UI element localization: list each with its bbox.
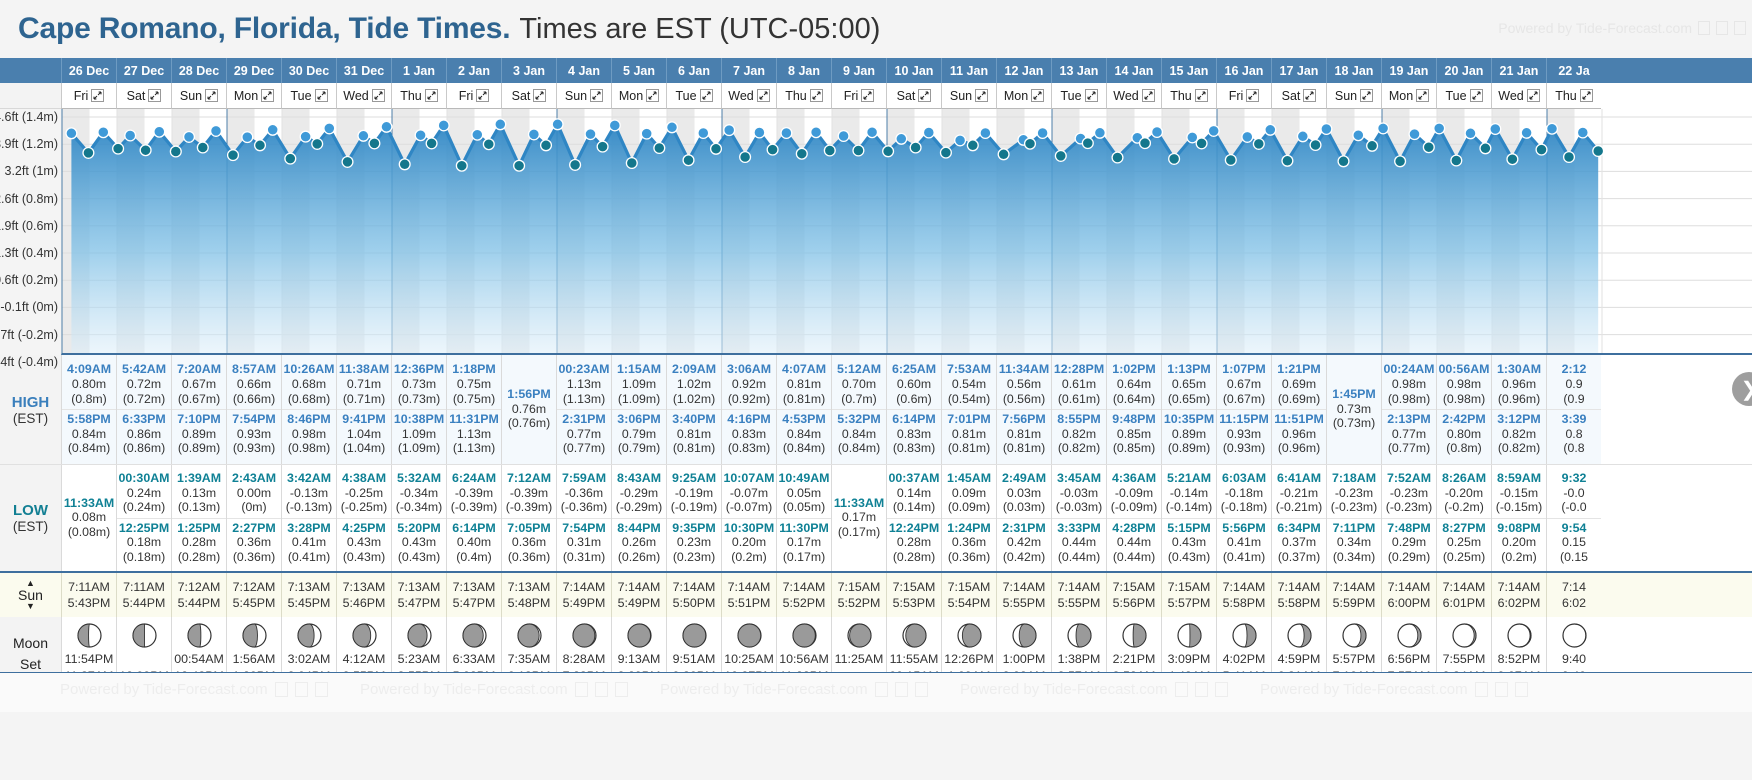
page-title: Cape Romano, Florida, Tide Times. — [18, 12, 510, 46]
date-header-cell[interactable]: 21 Jan — [1491, 58, 1546, 83]
high-tide-time: 4:53PM — [777, 412, 831, 427]
expand-day-icon[interactable] — [918, 89, 931, 102]
sunrise-time: 7:11AM — [68, 580, 110, 594]
sunrise-time: 7:14AM — [1498, 580, 1541, 594]
high-tide-event: 3:390.8(0.8 — [1547, 409, 1601, 459]
sunset-time: 5:44PM — [178, 596, 221, 610]
tide-chart-plot[interactable] — [61, 109, 1752, 355]
low-tide-time: 5:56PM — [1217, 521, 1271, 536]
weekday-label: Mon — [619, 89, 643, 103]
sun-cell: 7:13AM5:47PM — [391, 573, 446, 617]
sunset-time: 5:56PM — [1113, 596, 1156, 610]
high-tide-cell: 4:09AM0.80m(0.8m)5:58PM0.84m(0.84m) — [61, 355, 116, 464]
weekday-cell: Sat — [116, 83, 171, 109]
sunrise-time: 7:13AM — [288, 580, 331, 594]
low-tide-event: 9:35PM0.23m(0.23m) — [667, 518, 721, 568]
high-tide-height: 0.8 — [1547, 427, 1601, 442]
high-tide-point — [267, 124, 278, 135]
low-tide-time: 5:15PM — [1162, 521, 1216, 536]
high-tide-cell: 1:30AM0.96m(0.96m)3:12PM0.82m(0.82m) — [1491, 355, 1546, 464]
moon-phase-icon — [1177, 623, 1202, 648]
sunrise-time: 7:14AM — [1443, 580, 1486, 594]
high-tide-time: 9:41PM — [337, 412, 391, 427]
date-header-cell[interactable]: 31 Dec — [336, 58, 391, 83]
low-tide-point — [1253, 139, 1264, 150]
low-tide-time: 4:25PM — [337, 521, 391, 536]
high-tide-point — [667, 122, 678, 133]
expand-day-icon[interactable] — [315, 89, 328, 102]
date-header-cell[interactable]: 28 Dec — [171, 58, 226, 83]
high-tide-point — [552, 119, 563, 130]
expand-day-icon[interactable] — [1470, 89, 1483, 102]
high-tide-cell: 00:23AM1.13m(1.13m)2:31PM0.77m(0.77m) — [556, 355, 611, 464]
low-tide-time: 8:26AM — [1437, 471, 1491, 486]
high-tide-event: 11:15PM0.93m(0.93m) — [1217, 409, 1271, 459]
expand-day-icon[interactable] — [1360, 89, 1373, 102]
sunrise-time: 7:14AM — [563, 580, 606, 594]
sunset-time: 5:45PM — [288, 596, 331, 610]
low-tide-time: 7:54PM — [557, 521, 611, 536]
low-tide-height-alt: (-0.07m) — [722, 500, 776, 515]
low-tide-time: 7:05PM — [502, 521, 556, 536]
low-tide-height-alt: (-0.23m) — [1382, 500, 1436, 515]
high-tide-point — [955, 135, 966, 146]
sunset-time: 5:44PM — [123, 596, 166, 610]
date-header-cell[interactable]: 7 Jan — [721, 58, 776, 83]
high-tide-cell: 7:20AM0.67m(0.67m)7:10PM0.89m(0.89m) — [171, 355, 226, 464]
high-tide-height: 0.98m — [282, 427, 336, 442]
high-tide-height: 0.64m — [1107, 377, 1161, 392]
expand-day-icon[interactable] — [91, 89, 104, 102]
high-tide-event: 3:06AM0.92m(0.92m) — [722, 360, 776, 409]
sun-row: ▲ Sun ▼ 7:11AM5:43PM7:11AM5:44PM7:12AM5:… — [0, 573, 1752, 617]
watermark-top-text: Powered by Tide-Forecast.com — [1498, 20, 1692, 36]
sun-cell: 7:14AM5:58PM — [1216, 573, 1271, 617]
low-tide-height-alt: (0.05m) — [777, 500, 831, 515]
date-header-cell[interactable]: 29 Dec — [226, 58, 281, 83]
expand-day-icon[interactable] — [810, 89, 823, 102]
high-tide-height: 0.80m — [62, 377, 116, 392]
expand-day-icon[interactable] — [1416, 89, 1429, 102]
expand-day-icon[interactable] — [205, 89, 218, 102]
expand-day-icon[interactable] — [861, 89, 874, 102]
low-tide-height-alt: (0.4m) — [447, 550, 501, 565]
date-header-cell[interactable]: 12 Jan — [996, 58, 1051, 83]
high-tide-point — [211, 126, 222, 137]
high-tide-time: 1:21PM — [1272, 362, 1326, 377]
high-tide-height-alt: (0.84m) — [832, 441, 886, 456]
sun-cell: 7:14AM6:00PM — [1381, 573, 1436, 617]
high-tide-cell: 00:56AM0.98m(0.98m)2:42PM0.80m(0.8m) — [1436, 355, 1491, 464]
moonset-time: 5:57PM — [1333, 652, 1376, 667]
high-tide-point — [125, 130, 136, 141]
low-tide-event: 8:27PM0.25m(0.25m) — [1437, 518, 1491, 568]
low-tide-height: 0.24m — [117, 486, 171, 501]
high-tide-height-alt: (0.75m) — [447, 392, 501, 407]
high-tide-height-alt: (0.79m) — [612, 441, 666, 456]
sunrise-time: 7:12AM — [233, 580, 276, 594]
expand-day-icon[interactable] — [261, 89, 274, 102]
low-tide-height: -0.19m — [667, 486, 721, 501]
weekday-cell: Sun — [1326, 83, 1381, 109]
high-tide-event: 6:33PM0.86m(0.86m) — [117, 409, 171, 459]
high-tide-height: 0.93m — [227, 427, 281, 442]
low-tide-point — [967, 140, 978, 151]
high-tide-cell: 00:24AM0.98m(0.98m)2:13PM0.77m(0.77m) — [1381, 355, 1436, 464]
high-tide-event: 1:56PM0.76m(0.76m) — [502, 385, 556, 434]
high-tide-point — [1242, 132, 1253, 143]
footer-icon-3a — [875, 682, 888, 697]
date-header-cell[interactable]: 3 Jan — [501, 58, 556, 83]
low-tide-point — [711, 143, 722, 154]
low-tide-height-alt: (-0.39m) — [502, 500, 556, 515]
weekday-label: Thu — [1170, 89, 1192, 103]
low-tide-point — [1169, 154, 1180, 165]
low-tide-height-alt: (0.18m) — [117, 550, 171, 565]
date-header-cell[interactable]: 8 Jan — [776, 58, 831, 83]
low-tide-point — [1196, 138, 1207, 149]
date-header-cell[interactable]: 5 Jan — [611, 58, 666, 83]
low-tide-height: 0.20m — [1492, 535, 1546, 550]
date-header-cell[interactable]: 15 Jan — [1161, 58, 1216, 83]
footer-watermark-text-1: Powered by Tide-Forecast.com — [60, 681, 268, 698]
high-tide-height: 0.96m — [1272, 427, 1326, 442]
sunrise-time: 7:12AM — [178, 580, 221, 594]
low-tide-height-alt: (0.2m) — [1492, 550, 1546, 565]
expand-day-icon[interactable] — [476, 89, 489, 102]
high-tide-time: 11:34AM — [997, 362, 1051, 377]
sunrise-time: 7:15AM — [1168, 580, 1211, 594]
high-tide-point — [438, 120, 449, 131]
high-tide-height: 0.73m — [392, 377, 446, 392]
high-tide-event: 5:12AM0.70m(0.7m) — [832, 360, 886, 409]
low-tide-point — [113, 143, 124, 154]
footer-watermark-1: Powered by Tide-Forecast.com — [60, 681, 328, 698]
weekday-cell: Fri — [831, 83, 886, 109]
low-tide-event: 4:25PM0.43m(0.43m) — [337, 518, 391, 568]
low-tide-point — [456, 160, 467, 171]
weekday-cell: Mon — [1381, 83, 1436, 109]
high-tide-height: 0.66m — [227, 377, 281, 392]
high-tide-event: 11:51PM0.96m(0.96m) — [1272, 409, 1326, 459]
high-tide-height: 0.67m — [1217, 377, 1271, 392]
sun-cell: 7:14AM5:52PM — [776, 573, 831, 617]
low-tide-cell: 9:32-0.0(-0.09:540.15(0.15 — [1546, 465, 1601, 571]
high-tide-point — [1321, 124, 1332, 135]
high-tide-height-alt: (0.71m) — [337, 392, 391, 407]
expand-day-icon[interactable] — [1195, 89, 1208, 102]
date-header-cell[interactable]: 17 Jan — [1271, 58, 1326, 83]
expand-day-icon[interactable] — [425, 89, 438, 102]
high-tide-height: 0.81m — [667, 427, 721, 442]
low-tide-height: 0.09m — [942, 486, 996, 501]
sunrise-time: 7:14AM — [1278, 580, 1321, 594]
date-header-cell[interactable]: 26 Dec — [61, 58, 116, 83]
high-tide-height: 0.68m — [282, 377, 336, 392]
low-tide-height-alt: (0.26m) — [612, 550, 666, 565]
sun-cell: 7:14AM5:59PM — [1326, 573, 1381, 617]
moon-set-label: Set — [20, 657, 41, 671]
expand-day-icon[interactable] — [975, 89, 988, 102]
date-header-cell[interactable]: 18 Jan — [1326, 58, 1381, 83]
footer-icon-2a — [575, 682, 588, 697]
high-tide-event: 3:12PM0.82m(0.82m) — [1492, 409, 1546, 459]
low-tide-time: 8:27PM — [1437, 521, 1491, 536]
high-tide-time: 12:36PM — [392, 362, 446, 377]
low-tide-height: 0.17m — [832, 510, 886, 525]
high-tide-time: 11:15PM — [1217, 412, 1271, 427]
low-tide-time: 3:28PM — [282, 521, 336, 536]
expand-day-icon[interactable] — [148, 89, 161, 102]
high-tide-height-alt: (0.98m) — [1437, 392, 1491, 407]
high-tide-cell: 1:18PM0.75m(0.75m)11:31PM1.13m(1.13m) — [446, 355, 501, 464]
date-header-cell[interactable]: 16 Jan — [1216, 58, 1271, 83]
moon-phase-icon — [847, 623, 872, 648]
date-header-cell[interactable]: 6 Jan — [666, 58, 721, 83]
expand-day-icon[interactable] — [1303, 89, 1316, 102]
high-tide-cell: 2:09AM1.02m(1.02m)3:40PM0.81m(0.81m) — [666, 355, 721, 464]
expand-day-icon[interactable] — [590, 89, 603, 102]
weekday-cell: Mon — [611, 83, 666, 109]
low-tide-event: 6:03AM-0.18m(-0.18m) — [1217, 469, 1271, 518]
high-tide-height: 0.75m — [447, 377, 501, 392]
high-tide-point — [1465, 128, 1476, 139]
high-label-tz: (EST) — [13, 411, 48, 426]
date-header-cell[interactable]: 10 Jan — [886, 58, 941, 83]
expand-day-icon[interactable] — [533, 89, 546, 102]
low-tide-event: 10:30PM0.20m(0.2m) — [722, 518, 776, 568]
high-tide-event: 8:57AM0.66m(0.66m) — [227, 360, 281, 409]
low-tide-height-alt: (0.17m) — [832, 525, 886, 540]
low-tide-event: 5:21AM-0.14m(-0.14m) — [1162, 469, 1216, 518]
weekday-cell: Wed — [1491, 83, 1546, 109]
weekday-cell: Tue — [1436, 83, 1491, 109]
high-tide-event: 7:53AM0.54m(0.54m) — [942, 360, 996, 409]
expand-day-icon[interactable] — [1085, 89, 1098, 102]
high-tide-time: 00:23AM — [557, 362, 611, 377]
low-tide-point — [369, 138, 380, 149]
low-tide-point — [342, 157, 353, 168]
high-tide-event: 2:13PM0.77m(0.77m) — [1382, 409, 1436, 459]
high-tide-cell: 6:25AM0.60m(0.6m)6:14PM0.83m(0.83m) — [886, 355, 941, 464]
weekday-cell: Thu — [1546, 83, 1601, 109]
low-tide-cell: 1:39AM0.13m(0.13m)1:25PM0.28m(0.28m) — [171, 465, 226, 571]
high-tide-time: 4:16PM — [722, 412, 776, 427]
high-tide-event: 2:09AM1.02m(1.02m) — [667, 360, 721, 409]
footer-icon-3b — [895, 682, 908, 697]
high-tide-time: 2:12 — [1547, 362, 1601, 377]
footer-icon-4c — [1215, 682, 1228, 697]
moonset-time: 4:59PM — [1278, 652, 1321, 667]
low-tide-height: 0.15 — [1547, 535, 1601, 550]
high-tide-cell: 12:36PM0.73m(0.73m)10:38PM1.09m(1.09m) — [391, 355, 446, 464]
high-tide-height: 0.83m — [722, 427, 776, 442]
date-header-cell[interactable]: 27 Dec — [116, 58, 171, 83]
moonset-time: 10:25AM — [724, 652, 774, 667]
high-tide-event: 1:02PM0.64m(0.64m) — [1107, 360, 1161, 409]
moonset-time: 6:33AM — [453, 652, 496, 667]
sunset-time: 5:47PM — [453, 596, 496, 610]
low-tide-point — [1423, 142, 1434, 153]
low-tide-point — [683, 155, 694, 166]
expand-day-icon[interactable] — [1031, 89, 1044, 102]
low-tide-cell: 5:21AM-0.14m(-0.14m)5:15PM0.43m(0.43m) — [1161, 465, 1216, 571]
sunrise-time: 7:14AM — [1058, 580, 1101, 594]
high-tide-event: 1:15AM1.09m(1.09m) — [612, 360, 666, 409]
low-tide-height: 0.03m — [997, 486, 1051, 501]
high-tide-height-alt: (0.76m) — [502, 416, 556, 431]
weekday-label: Sun — [565, 89, 587, 103]
low-tide-event: 2:43AM0.00m(0m) — [227, 469, 281, 518]
moonset-time: 7:35AM — [508, 652, 551, 667]
watermark-icon-3 — [1734, 21, 1746, 35]
low-tide-height: -0.07m — [722, 486, 776, 501]
sun-cell: 7:14AM6:02PM — [1491, 573, 1546, 617]
low-tide-height-alt: (0.43m) — [1162, 550, 1216, 565]
high-tide-point — [415, 130, 426, 141]
low-tide-height-alt: (0.24m) — [117, 500, 171, 515]
low-tide-event: 6:34PM0.37m(0.37m) — [1272, 518, 1326, 568]
high-tide-point — [609, 120, 620, 131]
sun-cell: 7:14AM5:51PM — [721, 573, 776, 617]
date-header-cell[interactable]: 13 Jan — [1051, 58, 1106, 83]
high-tide-time: 1:45PM — [1327, 387, 1381, 402]
date-header-cell[interactable]: 9 Jan — [831, 58, 886, 83]
high-tide-cell: 8:57AM0.66m(0.66m)7:54PM0.93m(0.93m) — [226, 355, 281, 464]
date-header-cell[interactable]: 22 Ja — [1546, 58, 1601, 83]
high-tide-point — [698, 128, 709, 139]
high-tide-height: 0.86m — [117, 427, 171, 442]
expand-day-icon[interactable] — [1142, 89, 1155, 102]
high-tide-height: 0.70m — [832, 377, 886, 392]
date-header-cell[interactable]: 19 Jan — [1381, 58, 1436, 83]
footer-watermark-3: Powered by Tide-Forecast.com — [660, 681, 928, 698]
low-tide-height: 0.25m — [1437, 535, 1491, 550]
weekday-label: Sat — [897, 89, 916, 103]
low-tide-time: 4:28PM — [1107, 521, 1161, 536]
moonset-time: 9:13AM — [618, 652, 661, 667]
high-tide-time: 1:15AM — [612, 362, 666, 377]
high-tide-height: 0.84m — [62, 427, 116, 442]
high-tide-height-alt: (0.73m) — [1327, 416, 1381, 431]
low-tide-height-alt: (0.43m) — [337, 550, 391, 565]
low-tide-time: 10:07AM — [722, 471, 776, 486]
sunset-time: 5:53PM — [893, 596, 936, 610]
weekday-cell: Sat — [1271, 83, 1326, 109]
sun-cell: 7:15AM5:53PM — [886, 573, 941, 617]
expand-day-icon[interactable] — [372, 89, 385, 102]
low-tide-height: 0.28m — [172, 535, 226, 550]
low-tide-event: 5:20PM0.43m(0.43m) — [392, 518, 446, 568]
moon-phase-icon — [187, 623, 212, 648]
high-tide-point — [1265, 124, 1276, 135]
expand-day-icon[interactable] — [700, 89, 713, 102]
high-tide-height-alt: (0.96m) — [1272, 441, 1326, 456]
high-tide-event: 1:07PM0.67m(0.67m) — [1217, 360, 1271, 409]
low-tide-point — [255, 140, 266, 151]
high-tide-height-alt: (0.85m) — [1107, 441, 1161, 456]
date-header-cell[interactable]: 30 Dec — [281, 58, 336, 83]
moon-phase-icon — [407, 623, 432, 648]
sunrise-time: 7:13AM — [508, 580, 551, 594]
low-tide-cell: 8:59AM-0.15m(-0.15m)9:08PM0.20m(0.2m) — [1491, 465, 1546, 571]
low-tide-point — [1338, 156, 1349, 167]
expand-day-icon[interactable] — [646, 89, 659, 102]
low-tide-height: -0.0 — [1547, 486, 1601, 501]
date-header-cell[interactable]: 20 Jan — [1436, 58, 1491, 83]
low-tide-height-alt: (0.03m) — [997, 500, 1051, 515]
expand-day-icon[interactable] — [1246, 89, 1259, 102]
low-tide-height: 0.43m — [337, 535, 391, 550]
high-tide-height: 1.02m — [667, 377, 721, 392]
sunrise-time: 7:14 — [1562, 580, 1586, 594]
high-tide-cell: 1:13PM0.65m(0.65m)10:35PM0.89m(0.89m) — [1161, 355, 1216, 464]
high-tide-point — [896, 133, 907, 144]
high-tide-event: 00:23AM1.13m(1.13m) — [557, 360, 611, 409]
date-header-row: 26 Dec27 Dec28 Dec29 Dec30 Dec31 Dec1 Ja… — [0, 58, 1752, 83]
date-header-cell[interactable]: 14 Jan — [1106, 58, 1161, 83]
high-tide-event: 12:36PM0.73m(0.73m) — [392, 360, 446, 409]
moon-phase-icon — [792, 623, 817, 648]
date-header-cell[interactable]: 1 Jan — [391, 58, 446, 83]
sun-cell: 7:14AM6:01PM — [1436, 573, 1491, 617]
high-tide-height: 0.84m — [777, 427, 831, 442]
low-tide-point — [824, 145, 835, 156]
high-tide-height: 0.82m — [1052, 427, 1106, 442]
expand-day-icon[interactable] — [757, 89, 770, 102]
low-tide-height: 0.41m — [282, 535, 336, 550]
sun-cell: 7:15AM5:52PM — [831, 573, 886, 617]
high-tide-height: 0.71m — [337, 377, 391, 392]
date-header-cell[interactable]: 11 Jan — [941, 58, 996, 83]
expand-day-icon[interactable] — [1527, 89, 1540, 102]
sunrise-time: 7:13AM — [398, 580, 441, 594]
expand-day-icon[interactable] — [1580, 89, 1593, 102]
moon-phase-icon — [1507, 623, 1532, 648]
high-tide-time: 3:12PM — [1492, 412, 1546, 427]
high-tide-height-alt: (0.8 — [1547, 441, 1601, 456]
sun-cell: 7:12AM5:44PM — [171, 573, 226, 617]
high-tide-point — [1353, 130, 1364, 141]
low-tide-time: 6:24AM — [447, 471, 501, 486]
weekday-label: Fri — [74, 89, 89, 103]
date-header-cell[interactable]: 2 Jan — [446, 58, 501, 83]
date-header-cell[interactable]: 4 Jan — [556, 58, 611, 83]
high-tide-time: 7:10PM — [172, 412, 226, 427]
high-tide-event: 12:28PM0.61m(0.61m) — [1052, 360, 1106, 409]
high-tide-height-alt: (0.89m) — [1162, 441, 1216, 456]
low-tide-height-alt: (-0.15m) — [1492, 500, 1546, 515]
high-tide-event: 8:46PM0.98m(0.98m) — [282, 409, 336, 459]
high-tide-height-alt: (0.96m) — [1492, 392, 1546, 407]
weekday-cell: Thu — [776, 83, 831, 109]
high-tide-point — [1490, 124, 1501, 135]
low-tide-height-alt: (0.43m) — [392, 550, 446, 565]
sunset-time: 5:50PM — [673, 596, 716, 610]
high-tide-cell: 1:45PM0.73m(0.73m) — [1326, 355, 1381, 464]
high-tide-cell: 5:12AM0.70m(0.7m)5:32PM0.84m(0.84m) — [831, 355, 886, 464]
high-tide-event: 00:24AM0.98m(0.98m) — [1382, 360, 1436, 409]
moon-label-text: Moon — [13, 636, 48, 650]
footer-watermark-text-2: Powered by Tide-Forecast.com — [360, 681, 568, 698]
low-tide-event: 1:45AM0.09m(0.09m) — [942, 469, 996, 518]
high-tide-height: 0.82m — [1492, 427, 1546, 442]
low-tide-height: 0.41m — [1217, 535, 1271, 550]
footer-icon-2b — [595, 682, 608, 697]
moon-phase-icon — [132, 623, 157, 648]
low-tide-cell: 10:07AM-0.07m(-0.07m)10:30PM0.20m(0.2m) — [721, 465, 776, 571]
low-tide-height-alt: (0.36m) — [942, 550, 996, 565]
